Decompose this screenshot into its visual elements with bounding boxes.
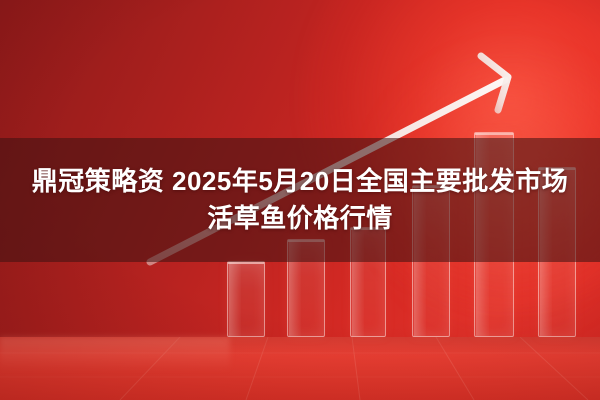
headline-line-2: 活草鱼价格行情 bbox=[207, 203, 393, 234]
banner-image: 鼎冠策略资 2025年5月20日全国主要批发市场 活草鱼价格行情 bbox=[0, 0, 600, 400]
headline-line-1: 鼎冠策略资 2025年5月20日全国主要批发市场 bbox=[32, 166, 568, 197]
headline-block: 鼎冠策略资 2025年5月20日全国主要批发市场 活草鱼价格行情 bbox=[0, 138, 600, 262]
